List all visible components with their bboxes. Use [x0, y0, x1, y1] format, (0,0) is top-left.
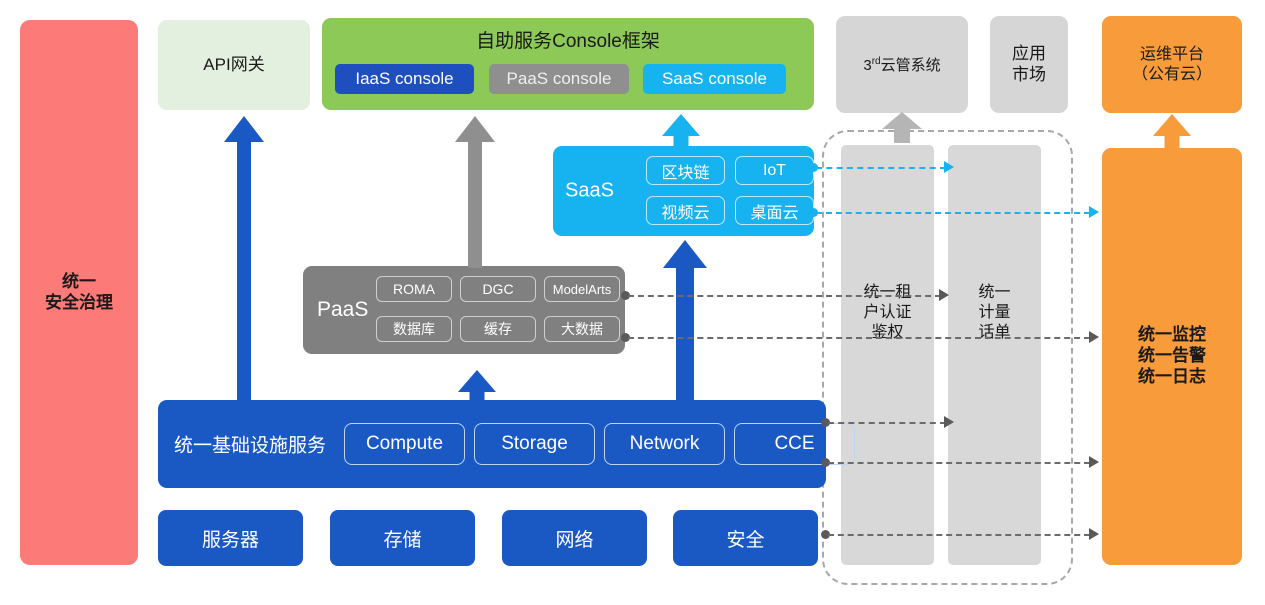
security-governance-panel: 统一 安全治理 [20, 20, 138, 565]
connector-saas-to-auth [816, 167, 946, 169]
unified-auth-label: 统一租 户认证 鉴权 [841, 283, 934, 343]
infra-item-compute[interactable]: Compute [344, 423, 465, 465]
connector-infra-to-auth [828, 422, 946, 424]
ops-monitoring-label: 统一监控 统一告警 统一日志 [1138, 325, 1206, 387]
arrow-infra-to-paas [457, 370, 497, 404]
api-gateway-box: API网关 [158, 20, 310, 110]
unified-billing-label: 统一 计量 话单 [948, 283, 1041, 343]
saas-layer-title: SaaS [565, 180, 614, 203]
connector-paas-to-auth [628, 295, 941, 297]
paas-item-roma[interactable]: ROMA [376, 276, 452, 302]
paas-layer-panel: PaaS ROMA DGC ModelArts 数据库 缓存 大数据 [303, 266, 625, 354]
connector-infra-to-ops [828, 462, 1090, 464]
connector-arrowhead-paas-ops [1089, 331, 1099, 343]
third-party-cloud-mgmt-box: 3rd云管系统 [836, 16, 968, 113]
third-party-cloud-mgmt-label: 3rd云管系统 [863, 54, 940, 75]
infrastructure-layer-panel: 统一基础设施服务 Compute Storage Network CCE [158, 400, 826, 488]
infra-item-network[interactable]: Network [604, 423, 725, 465]
connector-resources-to-ops [828, 534, 1090, 536]
connector-paas-to-ops [628, 337, 1090, 339]
arrow-infra-to-api-gateway [224, 116, 264, 402]
paas-item-bigdata[interactable]: 大数据 [544, 316, 620, 342]
arrow-infra-to-saas [663, 240, 707, 404]
connector-arrowhead-infra-auth [944, 416, 954, 428]
arrow-ops-body-to-ops-platform [1152, 114, 1192, 150]
saas-console-chip[interactable]: SaaS console [643, 64, 786, 94]
saas-item-desktop-cloud[interactable]: 桌面云 [735, 196, 814, 225]
resource-box-server[interactable]: 服务器 [158, 510, 303, 566]
connector-saas-to-ops [816, 212, 1090, 214]
console-framework-panel: 自助服务Console框架 IaaS console PaaS console … [322, 18, 814, 110]
paas-layer-title: PaaS [317, 298, 368, 322]
connector-arrowhead-resources-ops [1089, 528, 1099, 540]
app-market-label: 应用 市场 [1012, 44, 1046, 85]
connector-arrowhead-saas-ops [1089, 206, 1099, 218]
unified-auth-column [841, 145, 934, 565]
security-governance-label: 统一 安全治理 [45, 272, 113, 313]
ops-platform-label: 运维平台 （公有云） [1132, 45, 1212, 84]
unified-billing-column [948, 145, 1041, 565]
paas-console-chip[interactable]: PaaS console [489, 64, 629, 94]
connector-arrowhead-saas-auth [944, 161, 954, 173]
resource-box-storage[interactable]: 存储 [330, 510, 475, 566]
saas-item-iot[interactable]: IoT [735, 156, 814, 185]
arrow-saas-to-console [661, 114, 701, 150]
saas-item-video-cloud[interactable]: 视频云 [646, 196, 725, 225]
arrow-shared-to-third-party-cloud [882, 112, 922, 142]
paas-item-cache[interactable]: 缓存 [460, 316, 536, 342]
paas-item-dgc[interactable]: DGC [460, 276, 536, 302]
ops-platform-box: 运维平台 （公有云） [1102, 16, 1242, 113]
infrastructure-layer-title: 统一基础设施服务 [174, 431, 326, 458]
api-gateway-label: API网关 [203, 55, 264, 76]
infra-item-cce[interactable]: CCE [734, 423, 855, 465]
arrow-paas-to-console [455, 116, 495, 268]
architecture-diagram: 统一 安全治理 API网关 自助服务Console框架 IaaS console… [0, 0, 1265, 605]
connector-arrowhead-paas-auth [939, 289, 949, 301]
resource-box-security[interactable]: 安全 [673, 510, 818, 566]
infra-item-storage[interactable]: Storage [474, 423, 595, 465]
saas-layer-panel: SaaS 区块链 IoT 视频云 桌面云 [553, 146, 814, 236]
console-framework-title: 自助服务Console框架 [322, 26, 814, 53]
resource-box-network[interactable]: 网络 [502, 510, 647, 566]
app-market-box: 应用 市场 [990, 16, 1068, 113]
paas-item-modelarts[interactable]: ModelArts [544, 276, 620, 302]
paas-item-database[interactable]: 数据库 [376, 316, 452, 342]
iaas-console-chip[interactable]: IaaS console [335, 64, 474, 94]
saas-item-blockchain[interactable]: 区块链 [646, 156, 725, 185]
ops-monitoring-panel: 统一监控 统一告警 统一日志 [1102, 148, 1242, 565]
connector-arrowhead-infra-ops [1089, 456, 1099, 468]
